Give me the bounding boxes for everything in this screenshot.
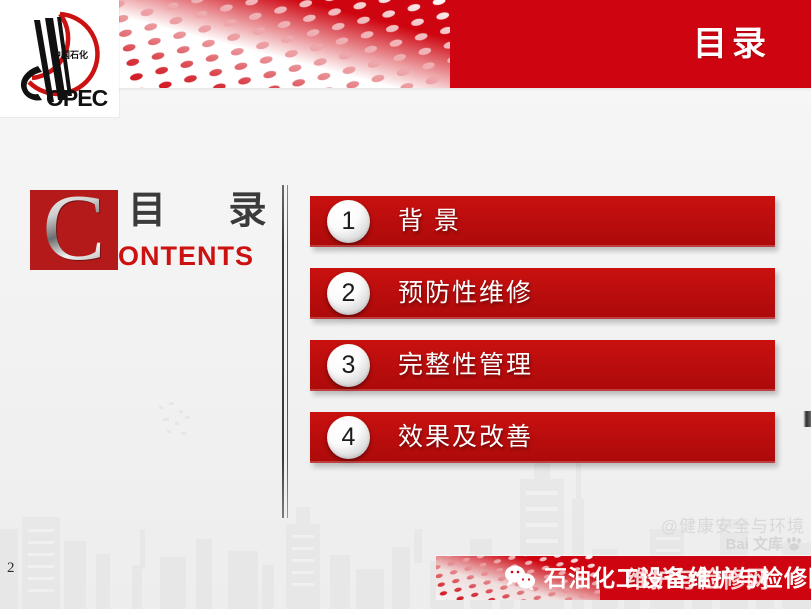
page-number: 2 bbox=[7, 560, 15, 577]
halftone-gradient-decoration bbox=[110, 0, 450, 88]
contents-heading: C 目 录 ONTENTS bbox=[30, 190, 270, 282]
sinopec-logo-icon: 中国石化 OPEC bbox=[4, 4, 116, 114]
banner-text-ghost: 维护与检修网 bbox=[626, 557, 770, 600]
menu-item-1-number: 1 bbox=[327, 200, 370, 243]
vertical-divider bbox=[282, 185, 289, 518]
contents-english-title: ONTENTS bbox=[118, 240, 254, 272]
menu-item-2-number: 2 bbox=[327, 272, 370, 315]
slide-header: 目录 bbox=[0, 0, 811, 88]
menu-item-3-label: 完整性管理 bbox=[398, 340, 533, 391]
svg-text:OPEC: OPEC bbox=[46, 85, 108, 111]
menu-item-4-number: 4 bbox=[327, 416, 370, 459]
right-edge-marker bbox=[803, 411, 811, 427]
svg-text:中国石化: 中国石化 bbox=[52, 49, 88, 60]
menu-item-2-label: 预防性维修 bbox=[398, 268, 533, 319]
header-underline bbox=[0, 88, 811, 91]
menu-item-3-number: 3 bbox=[327, 344, 370, 387]
speck-decoration bbox=[155, 400, 225, 440]
menu-item-4[interactable]: 4 效果及改善 bbox=[310, 412, 775, 463]
baidu-watermark-label: Bai 文库 bbox=[725, 533, 783, 554]
menu-item-1[interactable]: 1 背 景 bbox=[310, 196, 775, 247]
baidu-wenku-watermark: Bai 文库 bbox=[725, 533, 803, 554]
wechat-icon bbox=[504, 563, 536, 591]
page-title: 目录 bbox=[693, 22, 771, 66]
presentation-slide: 目录 中国石化 OPEC C 目 录 ONTENTS bbox=[0, 0, 811, 609]
menu-item-1-label: 背 景 bbox=[398, 196, 461, 247]
contents-chinese-title: 目 录 bbox=[128, 184, 293, 238]
contents-menu: 1 背 景 2 预防性维修 3 完整性管理 4 效果及改善 bbox=[310, 196, 775, 484]
menu-item-3[interactable]: 3 完整性管理 bbox=[310, 340, 775, 391]
paw-icon bbox=[785, 537, 803, 551]
contents-c-letter: C bbox=[30, 180, 118, 276]
menu-item-4-label: 效果及改善 bbox=[398, 412, 533, 463]
sinopec-logo: 中国石化 OPEC bbox=[0, 0, 119, 117]
menu-item-2[interactable]: 2 预防性维修 bbox=[310, 268, 775, 319]
bottom-banner: 石油化工设备维护与检修网 维护与检修网 bbox=[436, 556, 811, 600]
